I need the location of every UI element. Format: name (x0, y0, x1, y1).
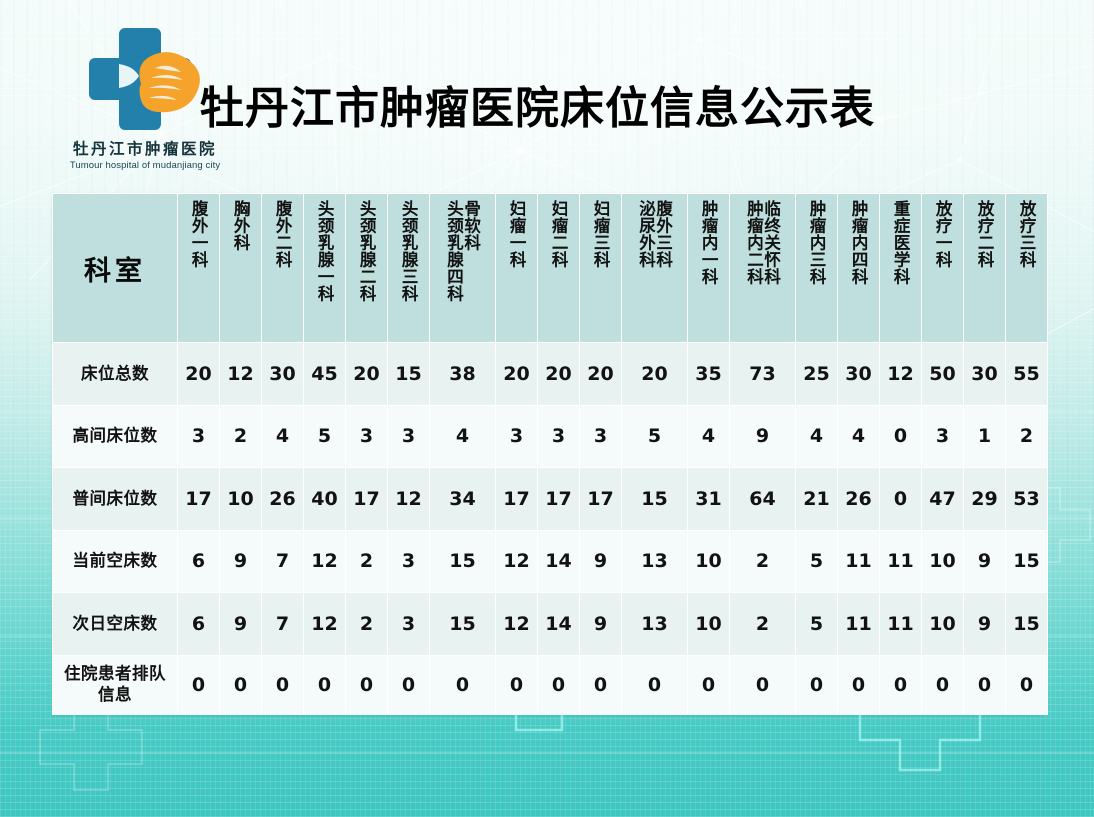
data-cell: 0 (304, 656, 345, 714)
table-head: 科室 腹外一科胸外科腹外二科头颈乳腺一科头颈乳腺二科头颈乳腺三科头颈乳腺四科骨软… (53, 194, 1047, 342)
hospital-name-en: Tumour hospital of mudanjiang city (52, 160, 238, 171)
column-header-line: 放疗二科 (976, 200, 993, 268)
data-cell: 11 (838, 593, 879, 655)
data-cell: 7 (262, 593, 303, 655)
data-cell: 0 (388, 656, 429, 714)
row-label: 住院患者排队信息 (53, 656, 177, 714)
data-cell: 3 (178, 406, 219, 468)
data-cell: 45 (304, 343, 345, 405)
column-header-line: 腹外二科 (274, 200, 291, 268)
vertical-text-wrap: 放疗二科 (964, 200, 1005, 334)
column-header-line: 肿瘤内二科 (745, 200, 762, 285)
vertical-text-wrap: 肿瘤内三科 (796, 200, 837, 334)
vertical-text-wrap: 腹外一科 (178, 200, 219, 334)
column-header-line: 放疗三科 (1018, 200, 1035, 268)
data-cell: 26 (262, 468, 303, 530)
data-cell: 9 (964, 531, 1005, 593)
data-cell: 29 (964, 468, 1005, 530)
data-cell: 0 (880, 406, 921, 468)
column-header-line: 头颈乳腺一科 (316, 200, 333, 302)
data-cell: 17 (496, 468, 537, 530)
bed-info-table: 科室 腹外一科胸外科腹外二科头颈乳腺一科头颈乳腺二科头颈乳腺三科头颈乳腺四科骨软… (52, 193, 1048, 715)
data-cell: 17 (346, 468, 387, 530)
data-cell: 25 (796, 343, 837, 405)
vertical-text-wrap: 头颈乳腺一科 (304, 200, 345, 334)
vertical-text-wrap: 肿瘤内四科 (838, 200, 879, 334)
column-header-8: 妇瘤二科 (538, 194, 579, 342)
data-cell: 17 (178, 468, 219, 530)
data-cell: 12 (496, 593, 537, 655)
data-cell: 40 (304, 468, 345, 530)
data-cell: 6 (178, 531, 219, 593)
data-cell: 53 (1006, 468, 1047, 530)
data-cell: 17 (538, 468, 579, 530)
vertical-text-wrap: 头颈乳腺二科 (346, 200, 387, 334)
data-cell: 35 (688, 343, 729, 405)
vertical-text-wrap: 胸外科 (220, 200, 261, 334)
data-cell: 2 (346, 593, 387, 655)
vertical-text-wrap: 头颈乳腺三科 (388, 200, 429, 334)
column-header-1: 胸外科 (220, 194, 261, 342)
column-header-7: 妇瘤一科 (496, 194, 537, 342)
data-cell: 50 (922, 343, 963, 405)
data-cell: 0 (622, 656, 687, 714)
data-cell: 0 (496, 656, 537, 714)
vertical-text-wrap: 妇瘤一科 (496, 200, 537, 334)
data-cell: 20 (580, 343, 621, 405)
column-header-6: 头颈乳腺四科骨软科 (430, 194, 495, 342)
column-header-10: 泌尿外科腹外三科 (622, 194, 687, 342)
column-header-2: 腹外二科 (262, 194, 303, 342)
data-cell: 1 (964, 406, 1005, 468)
column-header-12: 肿瘤内二科临终关怀科 (730, 194, 795, 342)
data-cell: 0 (838, 656, 879, 714)
data-cell: 0 (688, 656, 729, 714)
data-cell: 12 (304, 531, 345, 593)
data-cell: 0 (430, 656, 495, 714)
data-cell: 6 (178, 593, 219, 655)
data-cell: 0 (178, 656, 219, 714)
column-header-line: 肿瘤内一科 (700, 200, 717, 285)
data-cell: 15 (1006, 593, 1047, 655)
data-cell: 12 (388, 468, 429, 530)
vertical-text-wrap: 肿瘤内二科临终关怀科 (730, 200, 795, 334)
data-cell: 10 (220, 468, 261, 530)
vertical-text-wrap: 肿瘤内一科 (688, 200, 729, 334)
data-cell: 26 (838, 468, 879, 530)
column-header-line: 妇瘤三科 (592, 200, 609, 268)
data-cell: 15 (622, 468, 687, 530)
data-cell: 30 (838, 343, 879, 405)
column-header-line: 腹外三科 (655, 200, 672, 268)
data-cell: 0 (730, 656, 795, 714)
data-cell: 31 (688, 468, 729, 530)
data-cell: 15 (388, 343, 429, 405)
column-header-18: 放疗三科 (1006, 194, 1047, 342)
data-cell: 55 (1006, 343, 1047, 405)
table-body: 床位总数201230452015382020202035732530125030… (53, 343, 1047, 714)
vertical-text-wrap: 放疗一科 (922, 200, 963, 334)
data-cell: 9 (580, 593, 621, 655)
data-cell: 20 (538, 343, 579, 405)
data-cell: 7 (262, 531, 303, 593)
data-cell: 2 (730, 593, 795, 655)
data-cell: 3 (496, 406, 537, 468)
data-cell: 5 (304, 406, 345, 468)
row-label: 普间床位数 (53, 468, 177, 530)
data-cell: 0 (220, 656, 261, 714)
column-header-17: 放疗二科 (964, 194, 1005, 342)
data-cell: 4 (796, 406, 837, 468)
data-cell: 47 (922, 468, 963, 530)
data-cell: 10 (688, 531, 729, 593)
data-cell: 4 (838, 406, 879, 468)
data-cell: 34 (430, 468, 495, 530)
data-cell: 38 (430, 343, 495, 405)
data-cell: 14 (538, 531, 579, 593)
medical-cross-hand-logo-icon (81, 24, 209, 136)
column-header-line: 妇瘤二科 (550, 200, 567, 268)
data-cell: 64 (730, 468, 795, 530)
column-header-line: 头颈乳腺三科 (400, 200, 417, 302)
data-cell: 15 (430, 593, 495, 655)
data-cell: 9 (730, 406, 795, 468)
table-row: 次日空床数69712231512149131025111110915 (53, 593, 1047, 655)
table-corner-header: 科室 (53, 194, 177, 342)
row-label: 高间床位数 (53, 406, 177, 468)
column-header-9: 妇瘤三科 (580, 194, 621, 342)
vertical-text-wrap: 放疗三科 (1006, 200, 1047, 334)
data-cell: 3 (922, 406, 963, 468)
column-header-5: 头颈乳腺三科 (388, 194, 429, 342)
data-cell: 0 (964, 656, 1005, 714)
data-cell: 0 (346, 656, 387, 714)
data-cell: 5 (796, 531, 837, 593)
data-cell: 12 (496, 531, 537, 593)
data-cell: 17 (580, 468, 621, 530)
data-cell: 0 (262, 656, 303, 714)
column-header-line: 头颈乳腺二科 (358, 200, 375, 302)
column-header-15: 重症医学科 (880, 194, 921, 342)
data-cell: 3 (538, 406, 579, 468)
column-header-line: 骨软科 (463, 200, 480, 251)
data-cell: 12 (880, 343, 921, 405)
column-header-3: 头颈乳腺一科 (304, 194, 345, 342)
data-cell: 20 (496, 343, 537, 405)
data-cell: 0 (796, 656, 837, 714)
data-cell: 11 (838, 531, 879, 593)
data-cell: 20 (622, 343, 687, 405)
data-cell: 3 (580, 406, 621, 468)
data-cell: 3 (388, 406, 429, 468)
column-header-line: 妇瘤一科 (508, 200, 525, 268)
data-cell: 12 (304, 593, 345, 655)
data-cell: 30 (262, 343, 303, 405)
data-cell: 2 (220, 406, 261, 468)
vertical-text-wrap: 腹外二科 (262, 200, 303, 334)
data-cell: 9 (580, 531, 621, 593)
column-header-line: 肿瘤内三科 (808, 200, 825, 285)
data-cell: 10 (922, 531, 963, 593)
column-header-14: 肿瘤内四科 (838, 194, 879, 342)
vertical-text-wrap: 重症医学科 (880, 200, 921, 334)
column-header-line: 临终关怀科 (763, 200, 780, 285)
data-cell: 0 (880, 468, 921, 530)
data-cell: 9 (964, 593, 1005, 655)
data-cell: 14 (538, 593, 579, 655)
row-label: 次日空床数 (53, 593, 177, 655)
data-cell: 0 (580, 656, 621, 714)
bed-info-table-card: 科室 腹外一科胸外科腹外二科头颈乳腺一科头颈乳腺二科头颈乳腺三科头颈乳腺四科骨软… (52, 193, 1043, 715)
table-header-row: 科室 腹外一科胸外科腹外二科头颈乳腺一科头颈乳腺二科头颈乳腺三科头颈乳腺四科骨软… (53, 194, 1047, 342)
column-header-line: 胸外科 (232, 200, 249, 251)
data-cell: 3 (388, 593, 429, 655)
data-cell: 20 (346, 343, 387, 405)
column-header-line: 肿瘤内四科 (850, 200, 867, 285)
data-cell: 73 (730, 343, 795, 405)
data-cell: 2 (346, 531, 387, 593)
row-label: 当前空床数 (53, 531, 177, 593)
column-header-11: 肿瘤内一科 (688, 194, 729, 342)
data-cell: 13 (622, 531, 687, 593)
data-cell: 9 (220, 593, 261, 655)
data-cell: 10 (922, 593, 963, 655)
data-cell: 4 (262, 406, 303, 468)
data-cell: 12 (220, 343, 261, 405)
data-cell: 20 (178, 343, 219, 405)
column-header-16: 放疗一科 (922, 194, 963, 342)
column-header-4: 头颈乳腺二科 (346, 194, 387, 342)
column-header-line: 泌尿外科 (637, 200, 654, 268)
table-row: 住院患者排队信息0000000000000000000 (53, 656, 1047, 714)
data-cell: 3 (346, 406, 387, 468)
hospital-name-cn: 牡丹江市肿瘤医院 (52, 137, 238, 159)
vertical-text-wrap: 头颈乳腺四科骨软科 (430, 200, 495, 334)
data-cell: 5 (622, 406, 687, 468)
column-header-0: 腹外一科 (178, 194, 219, 342)
data-cell: 2 (1006, 406, 1047, 468)
data-cell: 0 (922, 656, 963, 714)
column-header-13: 肿瘤内三科 (796, 194, 837, 342)
data-cell: 11 (880, 593, 921, 655)
table-row: 普间床位数17102640171234171717153164212604729… (53, 468, 1047, 530)
table-row: 当前空床数69712231512149131025111110915 (53, 531, 1047, 593)
data-cell: 2 (730, 531, 795, 593)
data-cell: 0 (538, 656, 579, 714)
vertical-text-wrap: 妇瘤二科 (538, 200, 579, 334)
data-cell: 21 (796, 468, 837, 530)
table-row: 高间床位数3245334333549440312 (53, 406, 1047, 468)
data-cell: 0 (1006, 656, 1047, 714)
column-header-line: 腹外一科 (190, 200, 207, 268)
data-cell: 4 (430, 406, 495, 468)
column-header-line: 重症医学科 (892, 200, 909, 285)
table-row: 床位总数201230452015382020202035732530125030… (53, 343, 1047, 405)
vertical-text-wrap: 妇瘤三科 (580, 200, 621, 334)
data-cell: 15 (1006, 531, 1047, 593)
page-header: 牡丹江市肿瘤医院 Tumour hospital of mudanjiang c… (0, 0, 1094, 195)
data-cell: 15 (430, 531, 495, 593)
data-cell: 0 (880, 656, 921, 714)
data-cell: 11 (880, 531, 921, 593)
data-cell: 10 (688, 593, 729, 655)
column-header-line: 放疗一科 (934, 200, 951, 268)
data-cell: 13 (622, 593, 687, 655)
data-cell: 3 (388, 531, 429, 593)
vertical-text-wrap: 泌尿外科腹外三科 (622, 200, 687, 334)
data-cell: 5 (796, 593, 837, 655)
page-title: 牡丹江市肿瘤医院床位信息公示表 (200, 72, 875, 136)
row-label: 床位总数 (53, 343, 177, 405)
column-header-line: 头颈乳腺四科 (445, 200, 462, 302)
data-cell: 30 (964, 343, 1005, 405)
data-cell: 9 (220, 531, 261, 593)
data-cell: 4 (688, 406, 729, 468)
